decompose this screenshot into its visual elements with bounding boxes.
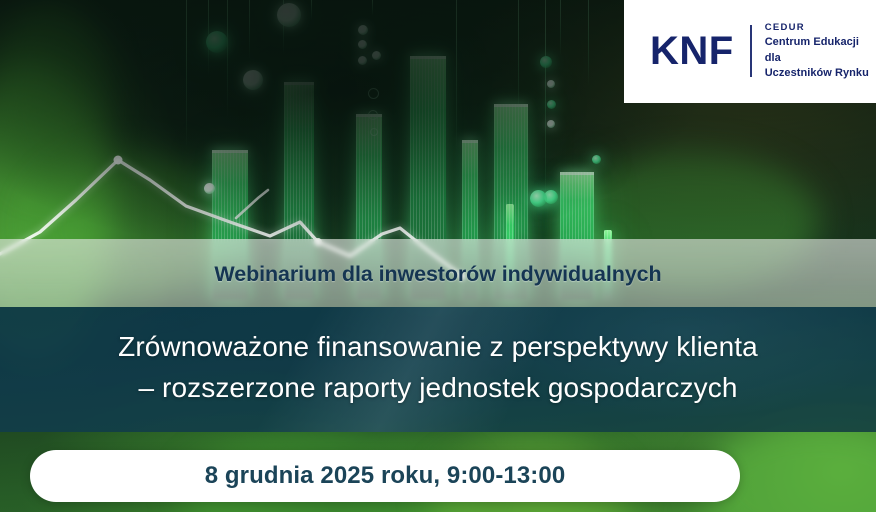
webinar-banner: Webinarium dla inwestorów indywidualnych… [0,0,876,512]
date-text: 8 grudnia 2025 roku, 9:00-13:00 [205,462,566,490]
knf-wordmark: KNF [650,31,734,71]
page-title-line-1: Zrównoważone finansowanie z perspektywy … [118,331,758,362]
webinar-subtitle: Webinarium dla inwestorów indywidualnych [0,262,876,287]
knf-cedur-logo: KNF CEDUR Centrum Edukacji dla Uczestnik… [624,0,876,103]
cedur-label: CEDUR [765,21,876,35]
cedur-name-line-2: Uczestników Rynku [765,66,876,82]
date-pill: 8 grudnia 2025 roku, 9:00-13:00 [30,450,740,502]
cedur-name-line-1: Centrum Edukacji dla [765,35,876,66]
page-title-line-2: – rozszerzone raporty jednostek gospodar… [0,367,876,408]
page-title: Zrównoważone finansowanie z perspektywy … [0,326,876,408]
logo-divider [750,25,752,77]
